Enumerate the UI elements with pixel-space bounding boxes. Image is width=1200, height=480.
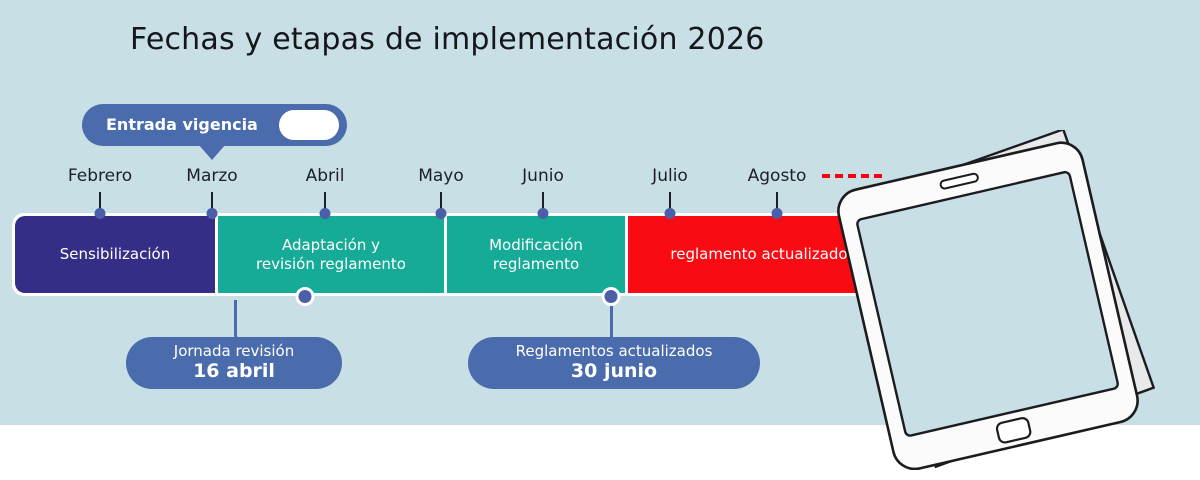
timeline-segment-label: Modificaciónreglamento — [489, 236, 583, 274]
tablet-illustration — [800, 130, 1200, 470]
tablet-svg — [800, 130, 1200, 470]
month-label-agosto: Agosto — [748, 166, 807, 186]
segment-label-line2: revisión reglamento — [256, 255, 406, 274]
segment-label-line1: Modificación — [489, 236, 583, 255]
callout-0[interactable]: Jornada revisión16 abril — [126, 337, 342, 389]
callout-date: 30 junio — [571, 360, 657, 383]
callout-1[interactable]: Reglamentos actualizados30 junio — [468, 337, 760, 389]
callout-anchor-dot-1 — [602, 287, 621, 306]
segment-label-line1: Adaptación y — [256, 236, 406, 255]
timeline-segment-1[interactable]: Adaptación yrevisión reglamento — [218, 216, 444, 293]
entrada-vigencia-toggle[interactable] — [279, 110, 339, 140]
axis-dot-junio — [538, 208, 549, 219]
segment-label-line1: Sensibilización — [60, 245, 170, 264]
callout-title: Jornada revisión — [174, 343, 294, 360]
axis-dot-abril — [320, 208, 331, 219]
axis-dot-mayo — [436, 208, 447, 219]
timeline-segment-label: Sensibilización — [60, 245, 170, 264]
axis-dot-julio — [665, 208, 676, 219]
month-label-febrero: Febrero — [68, 166, 132, 186]
entrada-vigencia-badge[interactable]: Entrada vigencia — [82, 104, 347, 146]
month-label-mayo: Mayo — [418, 166, 464, 186]
callout-anchor-dot-0 — [296, 287, 315, 306]
axis-dot-agosto — [772, 208, 783, 219]
month-label-julio: Julio — [652, 166, 688, 186]
entrada-vigencia-label: Entrada vigencia — [106, 115, 258, 134]
infographic-canvas: Fechas y etapas de implementación 2026 E… — [0, 0, 1200, 480]
callout-date: 16 abril — [193, 360, 275, 383]
callout-title: Reglamentos actualizados — [516, 343, 713, 360]
callout-connector-0 — [234, 300, 308, 343]
month-label-marzo: Marzo — [186, 166, 237, 186]
axis-dot-febrero — [95, 208, 106, 219]
timeline-segment-0[interactable]: Sensibilización — [15, 216, 215, 293]
segment-label-line2: reglamento — [489, 255, 583, 274]
timeline-segment-label: Adaptación yrevisión reglamento — [256, 236, 406, 274]
timeline-bar: SensibilizaciónAdaptación yrevisión regl… — [12, 213, 890, 296]
timeline-segment-2[interactable]: Modificaciónreglamento — [447, 216, 625, 293]
page-title: Fechas y etapas de implementación 2026 — [130, 22, 765, 57]
month-label-abril: Abril — [306, 166, 345, 186]
month-label-junio: Junio — [522, 166, 564, 186]
axis-dot-marzo — [207, 208, 218, 219]
badge-pointer-triangle — [198, 144, 226, 160]
